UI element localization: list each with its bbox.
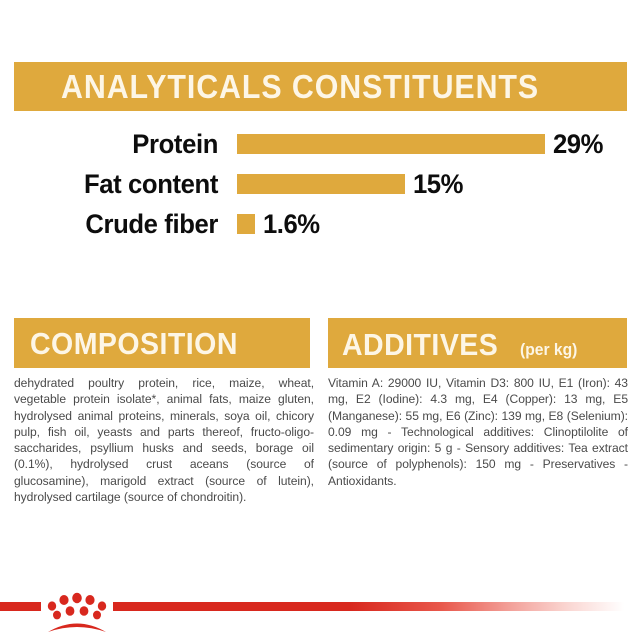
analytical-value-crude-fiber: 1.6%: [263, 211, 320, 238]
additives-body-text: Vitamin A: 29000 IU, Vitamin D3: 800 IU,…: [328, 375, 628, 489]
analytical-label-crude-fiber: Crude fiber: [11, 211, 218, 238]
additives-heading: ADDITIVES: [342, 326, 498, 364]
analytical-value-protein: 29%: [553, 131, 603, 158]
analytical-value-fat-content: 15%: [413, 171, 463, 198]
analytical-constituents-banner: ANALYTICALS CONSTITUENTS: [14, 62, 627, 111]
composition-banner: COMPOSITION: [14, 318, 310, 368]
rule-left-segment: [0, 602, 41, 611]
royal-canin-crown-icon: [44, 589, 110, 635]
analytical-bar-fat-content: [237, 174, 405, 194]
additives-subheading: (per kg): [520, 331, 577, 368]
additives-banner: ADDITIVES (per kg): [328, 318, 627, 368]
analytical-bar-crude-fiber: [237, 214, 255, 234]
analytical-constituents-heading: ANALYTICALS CONSTITUENTS: [61, 70, 539, 103]
analytical-constituents-chart: Protein 29% Fat content 15% Crude fiber …: [0, 124, 640, 244]
analytical-label-fat-content: Fat content: [11, 171, 218, 198]
analytical-bar-protein: [237, 134, 545, 154]
analytical-label-protein: Protein: [11, 131, 218, 158]
analytical-row-fat-content: Fat content 15%: [0, 164, 640, 204]
product-info-panel: ANALYTICALS CONSTITUENTS Protein 29% Fat…: [0, 0, 640, 640]
composition-heading: COMPOSITION: [30, 328, 238, 359]
analytical-row-protein: Protein 29%: [0, 124, 640, 164]
analytical-row-crude-fiber: Crude fiber 1.6%: [0, 204, 640, 244]
footer-brand-rule: [0, 592, 640, 634]
rule-right-segment: [113, 602, 640, 611]
composition-body-text: dehydrated poultry protein, rice, maize,…: [14, 375, 314, 505]
